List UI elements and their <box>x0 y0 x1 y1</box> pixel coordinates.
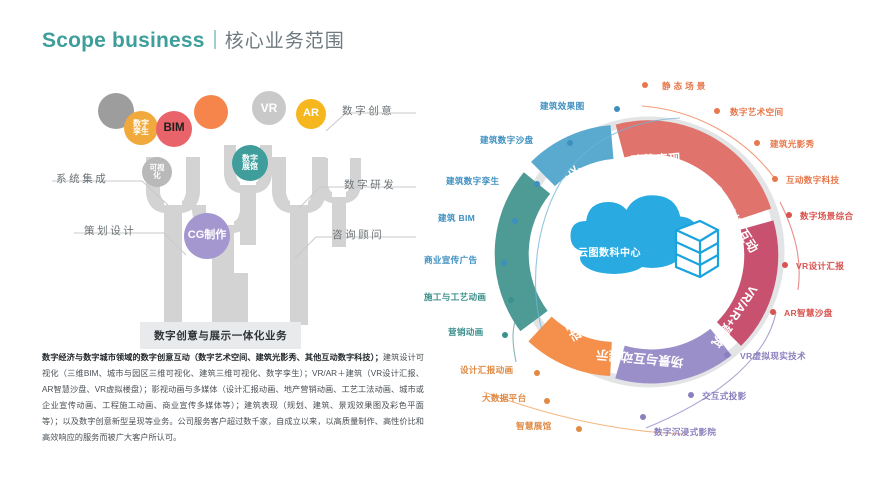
ring-segment-animation-multimedia <box>512 183 537 321</box>
description-rest: 建筑设计可视化（三维BIM、城市与园区三维可视化、建筑三维可视化、数字孪生）；V… <box>42 353 424 442</box>
title-divider <box>214 30 216 49</box>
ring-leaf-arch-digital-sandtable: 建筑数字沙盘 <box>480 134 533 146</box>
ring-leaf-dot-digital-scene-synthesis <box>786 212 792 218</box>
ring-leaf-ar-smart-sandtable: AR智慧沙盘 <box>784 307 833 319</box>
building-icon <box>676 221 718 277</box>
ring-leaf-dot-commercial-ad <box>501 260 507 266</box>
tree-caption-box: 数字创意与展示一体化业务 <box>140 322 301 349</box>
ring-leaf-dot-digital-art-space <box>714 108 720 114</box>
ring-leaf-interactive-digital-tech: 互动数字科技 <box>786 174 839 186</box>
page-title-cn: 核心业务范围 <box>225 26 345 53</box>
ring-leaf-digital-immersive-cinema: 数字沉浸式影院 <box>654 426 716 438</box>
ring-leaf-vr-technology: VR虚拟现实技术 <box>740 350 806 362</box>
tree-node-digital-twin: 数字孪生 <box>124 111 158 145</box>
tree-node-visualization: 可视化 <box>142 157 172 187</box>
ring-leaf-interactive-projection: 交互式投影 <box>702 390 746 402</box>
ring-leaf-marketing-animation: 营销动画 <box>448 326 484 338</box>
ring-leaf-digital-art-space: 数字艺术空间 <box>730 106 783 118</box>
tree-node-digital-hall: 数字展馆 <box>232 145 268 181</box>
ring-leaf-dot-marketing-animation <box>502 332 508 338</box>
tree-label-consulting: 咨询顾问 <box>332 227 384 242</box>
ring-leaf-arch-light-show: 建筑光影秀 <box>770 138 814 150</box>
tree-node-vr: VR <box>252 91 286 125</box>
ring-leaf-dot-vr-design-report <box>782 262 788 268</box>
ring-leaf-dot-interactive-projection <box>688 392 694 398</box>
ring-center-label: 云图数科中心 <box>578 244 641 259</box>
tree-node-label: 数字孪生 <box>131 120 151 136</box>
ring-leaf-arch-bim: 建筑 BIM <box>438 212 475 224</box>
ring-leaf-dot-static-scene <box>642 82 648 88</box>
tree-label-planning-design: 策划设计 <box>84 223 136 238</box>
ring-leaf-arch-digital-twin: 建筑数字孪生 <box>446 175 499 187</box>
ring-leaf-commercial-ad: 商业宣传广告 <box>424 254 477 266</box>
ring-leaf-dot-arch-light-show <box>754 140 760 146</box>
ring-leaf-dot-arch-rendering <box>614 106 620 112</box>
ring-leaf-dot-vr-technology <box>724 352 730 358</box>
ring-leaf-vr-design-report: VR设计汇报 <box>796 260 844 272</box>
ring-leaf-dot-digital-immersive-cinema <box>640 414 646 420</box>
slide-canvas: Scope business 核心业务范围 <box>0 0 889 500</box>
ring-leaf-construction-process-animation: 施工与工艺动画 <box>424 291 486 303</box>
ring-leaf-big-data-platform: 大数据平台 <box>482 392 526 404</box>
page-title-en: Scope business <box>42 29 205 53</box>
tree-node-label: 可视化 <box>149 164 165 179</box>
tree-node-label: BIM <box>163 123 184 135</box>
page-header: Scope business 核心业务范围 <box>42 26 345 53</box>
ring-leaf-design-report-animation: 设计汇报动画 <box>460 364 513 376</box>
tree-node-cg: CG制作 <box>184 213 230 259</box>
ring-leaf-dot-arch-digital-sandtable <box>567 140 573 146</box>
tree-label-digital-creative: 数字创意 <box>342 103 394 118</box>
tree-node-label: AR <box>303 108 319 119</box>
tree-node-bim: BIM <box>156 111 192 147</box>
description-lead: 数字经济与数字城市领域的数字创意互动（数字艺术空间、建筑光影秀、其他互动数字科技… <box>42 353 383 362</box>
tree-label-system-integration: 系统集成 <box>56 171 108 186</box>
ring-leaf-static-scene: 静 态 场 景 <box>662 80 706 92</box>
ring-leaf-dot-design-report-animation <box>534 370 540 376</box>
tree-node-orange-top <box>194 95 228 129</box>
ring-leaf-dot-big-data-platform <box>544 398 550 404</box>
ring-leaf-arch-rendering: 建筑效果图 <box>540 100 584 112</box>
ring-segment-label-arch-presentation: 建筑表现 <box>630 151 681 169</box>
tree-diagram: 数字孪生 BIM 可视化 VR AR 数字展馆 CG制作 系统集成 策划设计 数… <box>44 85 424 325</box>
ring-leaf-digital-scene-synthesis: 数字场景综合 <box>800 210 853 222</box>
tree-label-digital-rd: 数字研发 <box>344 177 396 192</box>
ring-leaf-dot-interactive-digital-tech <box>772 176 778 182</box>
ring-leaf-dot-construction-process-animation <box>508 297 514 303</box>
ring-leaf-dot-arch-digital-twin <box>534 181 540 187</box>
ring-leaf-dot-arch-bim <box>512 218 518 224</box>
ring-leaf-dot-smart-exhibition-hall <box>576 426 582 432</box>
tree-node-label: CG制作 <box>188 230 227 241</box>
tree-node-ar: AR <box>296 99 326 129</box>
tree-node-label: 数字展馆 <box>240 155 261 171</box>
ring-leaf-smart-exhibition-hall: 智慧展馆 <box>516 420 552 432</box>
tree-node-label: VR <box>261 102 278 114</box>
description-paragraph: 数字经济与数字城市领域的数字创意互动（数字艺术空间、建筑光影秀、其他互动数字科技… <box>42 350 424 446</box>
ring-leaf-dot-ar-smart-sandtable <box>770 309 776 315</box>
ring-diagram: 建筑表现 数字创意互动 VR/AR+建筑 场景与互动展示 动画与多媒体 建筑可视… <box>424 62 889 492</box>
